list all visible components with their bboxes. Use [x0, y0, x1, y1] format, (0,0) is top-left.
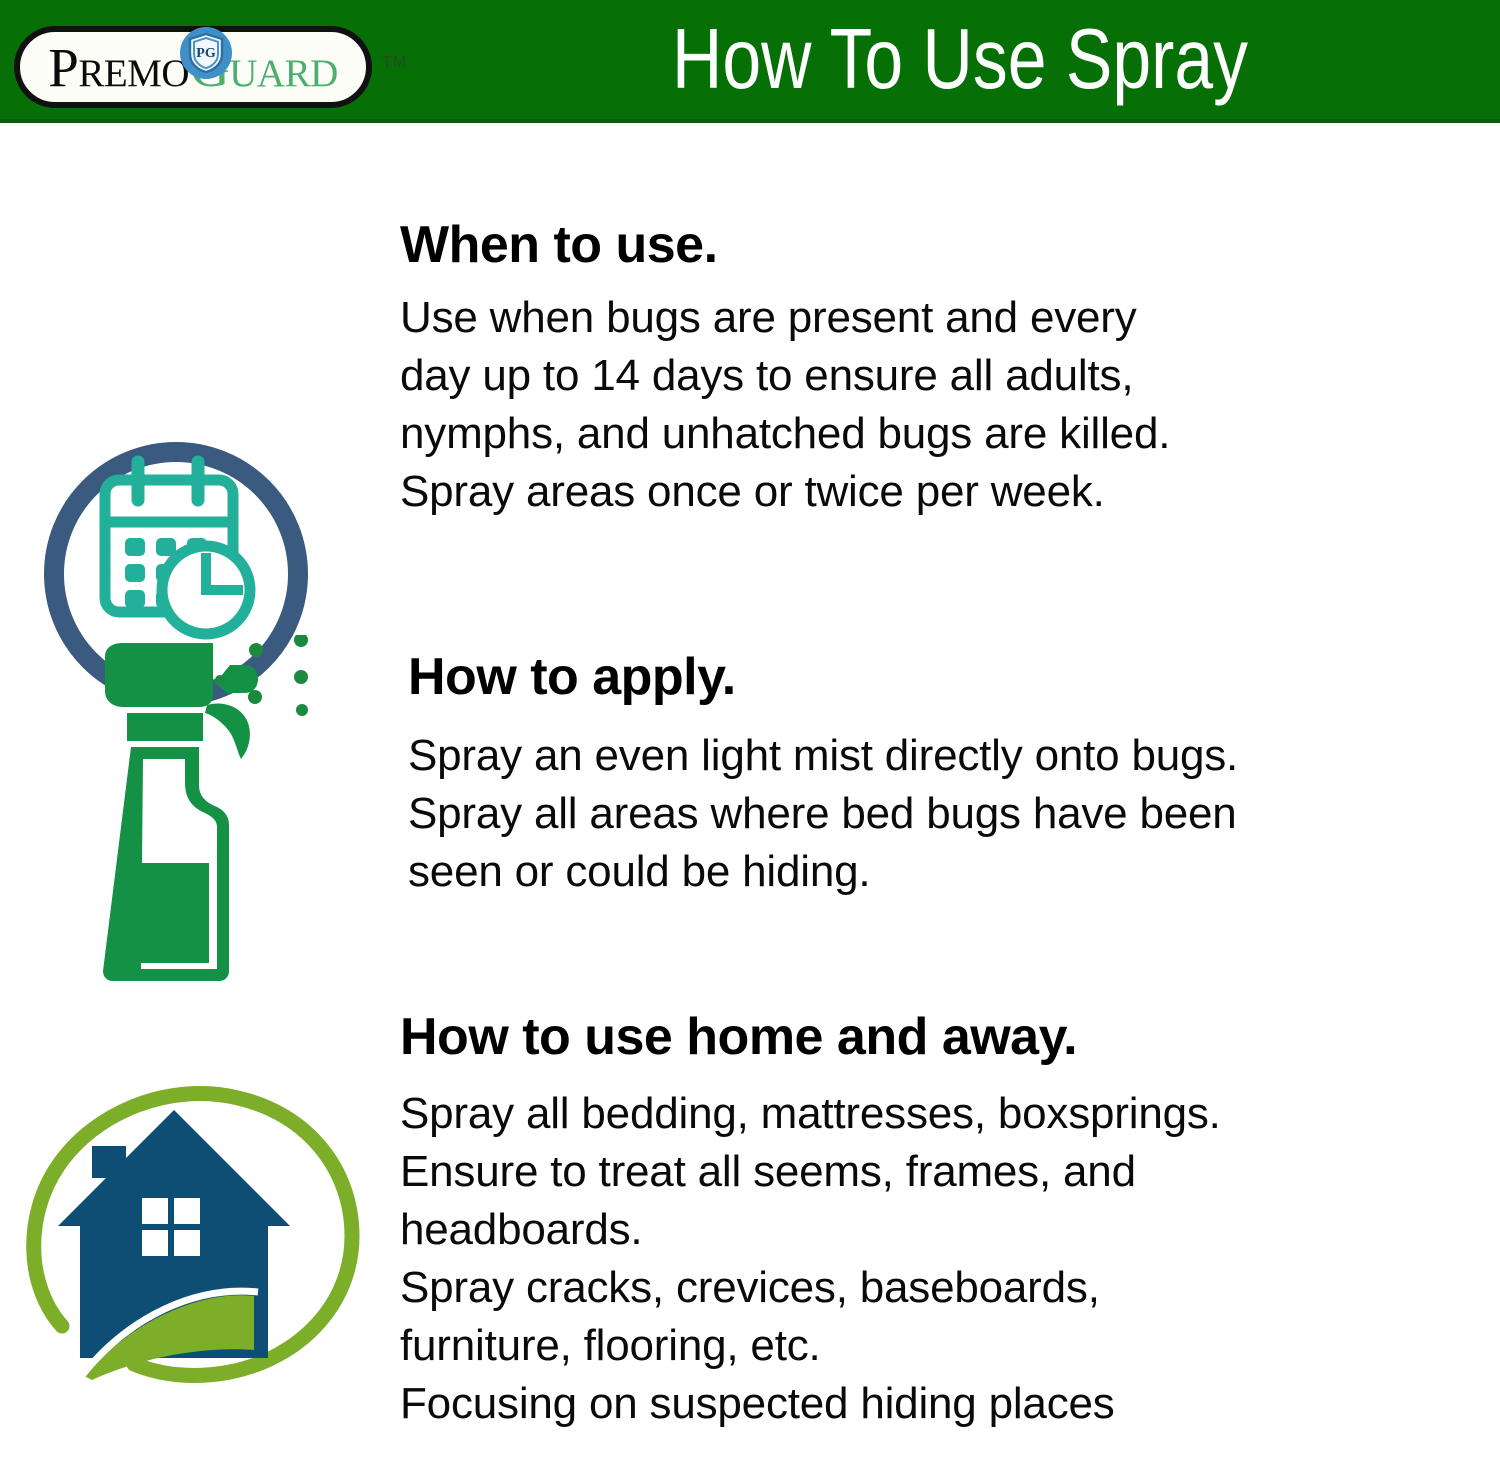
body-line: nymphs, and unhatched bugs are killed.	[400, 405, 1170, 463]
home-and-away-body: Spray all bedding, mattresses, boxspring…	[400, 1085, 1221, 1433]
how-to-apply-heading: How to apply.	[408, 650, 1238, 705]
body-line: Use when bugs are present and every	[400, 289, 1170, 347]
section-home-and-away: How to use home and away. Spray all bedd…	[0, 1010, 1500, 1469]
body-line: seen or could be hiding.	[408, 843, 1238, 901]
body-line: Focusing on suspected hiding places	[400, 1375, 1221, 1433]
home-and-away-heading: How to use home and away.	[400, 1010, 1221, 1065]
pg-shield-icon: PG	[180, 27, 232, 79]
shield-glyph: PG	[186, 32, 226, 74]
home-and-away-text-block: How to use home and away. Spray all bedd…	[400, 1010, 1221, 1433]
how-to-apply-body: Spray an even light mist directly onto b…	[408, 727, 1238, 901]
when-to-use-body: Use when bugs are present and every day …	[400, 289, 1170, 521]
how-to-apply-text-block: How to apply. Spray an even light mist d…	[408, 650, 1238, 901]
page-title: How To Use Spray	[517, 0, 1403, 119]
brand-logo: PremoGuard PG TM	[14, 26, 372, 108]
house-glyph	[22, 1058, 367, 1398]
body-line: headboards.	[400, 1201, 1221, 1259]
how-to-use-spray-infographic: PremoGuard PG TM How To Use Spray	[0, 0, 1500, 1469]
when-to-use-heading: When to use.	[400, 218, 1170, 273]
header-bottom-divider	[0, 119, 1500, 123]
trademark-symbol: TM	[382, 54, 407, 72]
page-header: PremoGuard PG TM How To Use Spray	[0, 0, 1500, 122]
logo-word-premo: Premo	[48, 40, 189, 95]
body-line: Spray an even light mist directly onto b…	[408, 727, 1238, 785]
body-line: Spray cracks, crevices, baseboards,	[400, 1259, 1221, 1317]
body-line: Spray all areas where bed bugs have been	[408, 785, 1238, 843]
body-line: furniture, flooring, etc.	[400, 1317, 1221, 1375]
body-line: Spray all bedding, mattresses, boxspring…	[400, 1085, 1221, 1143]
svg-text:PG: PG	[196, 46, 216, 61]
section-when-to-use: When to use. Use when bugs are present a…	[0, 210, 1500, 590]
body-line: Ensure to treat all seems, frames, and	[400, 1143, 1221, 1201]
when-to-use-text-block: When to use. Use when bugs are present a…	[400, 218, 1170, 521]
section-how-to-apply: How to apply. Spray an even light mist d…	[0, 620, 1500, 1000]
spray-bottle-glyph	[95, 635, 365, 985]
body-line: day up to 14 days to ensure all adults,	[400, 347, 1170, 405]
house-icon	[22, 1058, 367, 1398]
spray-bottle-icon	[95, 635, 365, 985]
body-line: Spray areas once or twice per week.	[400, 463, 1170, 521]
